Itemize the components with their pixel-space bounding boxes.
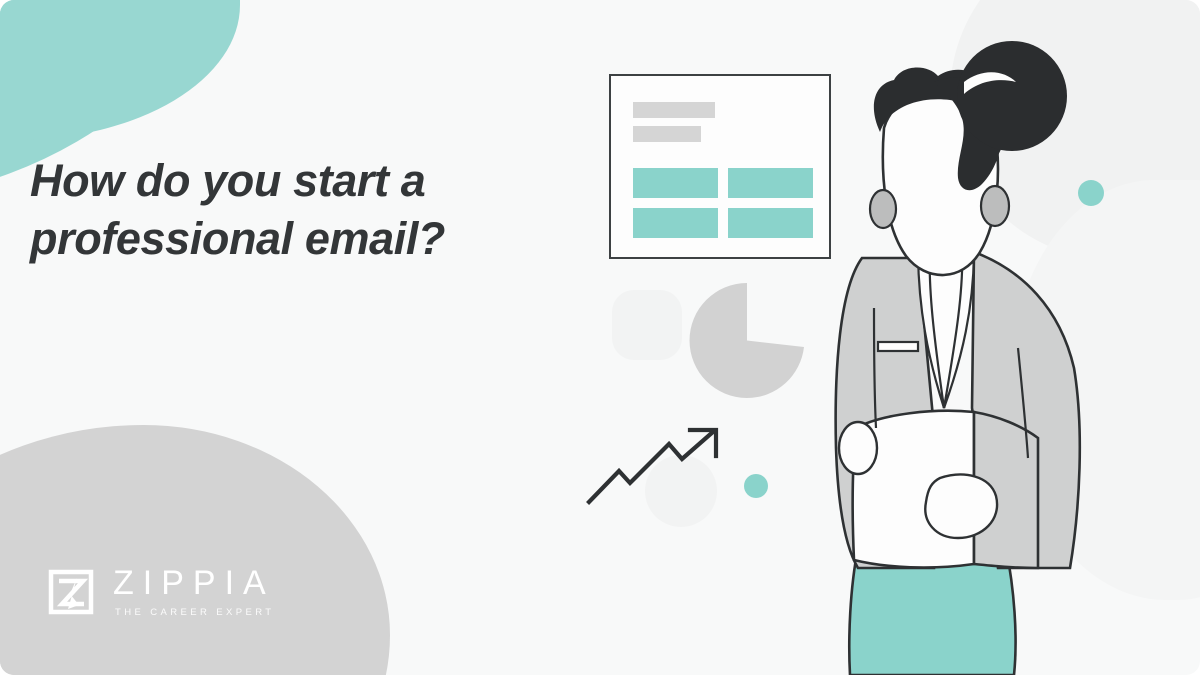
document-text-bar-2 bbox=[633, 126, 701, 142]
businesswoman-illustration bbox=[822, 8, 1112, 675]
zippia-tagline: THE CAREER EXPERT bbox=[115, 607, 275, 618]
zippia-z-mark-icon bbox=[46, 567, 96, 617]
background-gray-blob bbox=[0, 425, 390, 675]
document-table-cell-2 bbox=[728, 168, 813, 198]
document-text-bar-1 bbox=[633, 102, 715, 118]
page-title: How do you start a professional email? bbox=[30, 152, 530, 267]
document-table-cell-1 bbox=[633, 168, 718, 198]
background-teal-corner-shape-secondary bbox=[0, 0, 240, 140]
document-card bbox=[609, 74, 831, 259]
article-hero-banner: How do you start a professional email? bbox=[0, 0, 1200, 675]
background-soft-square-mid bbox=[612, 290, 682, 360]
document-table-cell-4 bbox=[728, 208, 813, 238]
teal-accent-dot-lower bbox=[744, 474, 768, 498]
zippia-logo[interactable]: ZIPPIA THE CAREER EXPERT bbox=[46, 566, 275, 618]
zippia-wordmark: ZIPPIA bbox=[113, 566, 275, 600]
upward-trend-arrow-icon bbox=[586, 423, 732, 505]
person-hair-bun bbox=[957, 41, 1067, 151]
pie-chart-icon bbox=[686, 283, 808, 398]
document-table-cell-3 bbox=[633, 208, 718, 238]
